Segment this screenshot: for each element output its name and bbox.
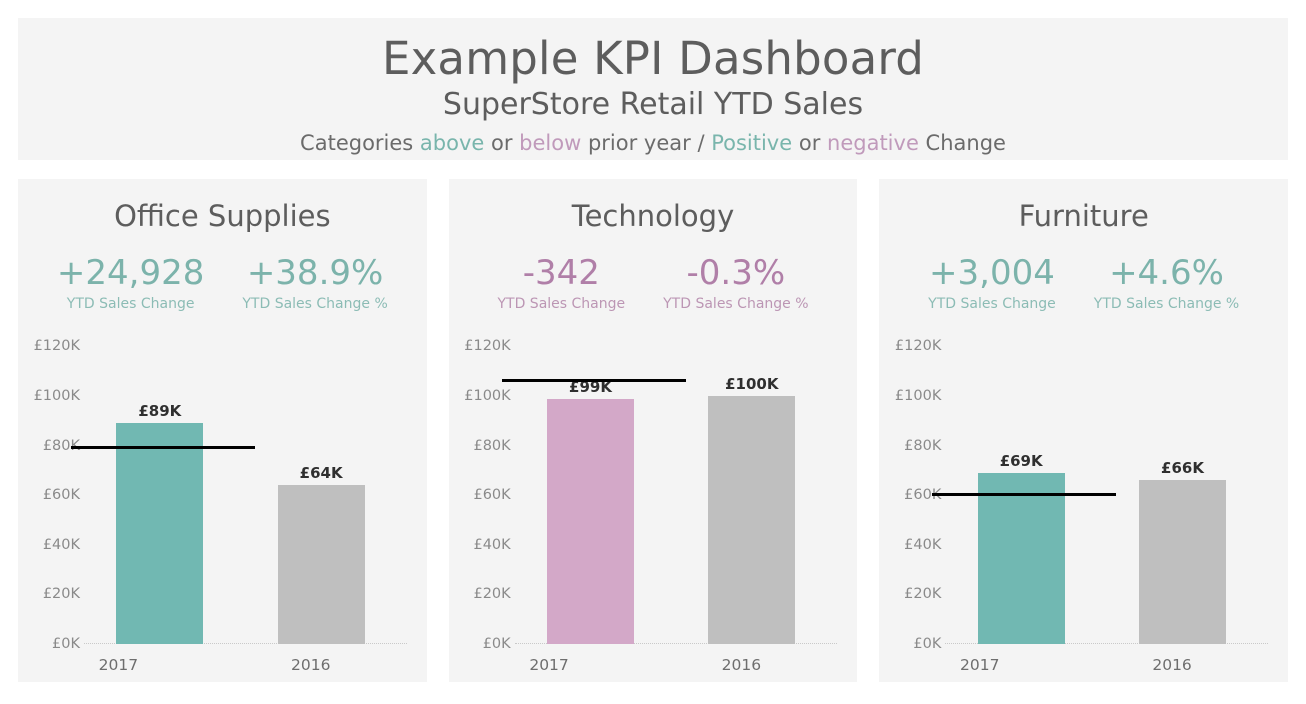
y-axis-tick: £60K [43,487,80,503]
legend-lead: Categories [300,131,420,155]
y-axis-tick: £100K [34,388,80,404]
y-axis-tick: £100K [464,388,510,404]
y-axis-tick: £20K [473,586,510,602]
metric-value: +4.6% [1094,256,1239,292]
kpi-card-technology: Technology-342YTD Sales Change-0.3%YTD S… [449,179,858,682]
x-axis-label: 2017 [928,656,1032,674]
dashboard-title: Example KPI Dashboard [382,34,924,84]
dashboard-legend: Categories above or below prior year / P… [300,130,1006,157]
metric-value: +24,928 [57,256,204,292]
metric-ytd-sales-change-pct: +38.9%YTD Sales Change % [242,256,387,313]
legend-mid-3: or [792,131,827,155]
y-axis-tick: £100K [895,388,941,404]
legend-mid-1: or [484,131,519,155]
bar-group[interactable]: £100K [708,346,795,644]
legend-mid-2: prior year / [581,131,711,155]
legend-below: below [519,131,581,155]
bar-group[interactable]: £99K [547,346,634,644]
bar-chart: £120K£100K£80K£60K£40K£20K£0K20172016£89… [28,336,413,682]
bar-value-label: £100K [725,375,778,393]
legend-negative: negative [827,131,919,155]
metric-value: +3,004 [928,256,1056,292]
dashboard-subtitle: SuperStore Retail YTD Sales [443,86,863,124]
metric-label: YTD Sales Change [928,296,1056,312]
kpi-metrics: -342YTD Sales Change-0.3%YTD Sales Chang… [449,256,858,313]
metric-label: YTD Sales Change % [242,296,387,312]
y-axis-tick: £0K [913,636,941,652]
plot-area: £69K£66K [945,346,1268,644]
metric-ytd-sales-change-pct: +4.6%YTD Sales Change % [1094,256,1239,313]
kpi-metrics: +24,928YTD Sales Change+38.9%YTD Sales C… [18,256,427,313]
bar-value-label: £66K [1161,459,1204,477]
bar-2017[interactable] [116,423,203,644]
kpi-card-row: Office Supplies+24,928YTD Sales Change+3… [18,179,1288,682]
legend-tail: Change [919,131,1006,155]
bar-2017[interactable] [547,399,634,644]
y-axis-tick: £60K [473,487,510,503]
plot-area: £89K£64K [84,346,407,644]
legend-positive: Positive [711,131,792,155]
bar-group[interactable]: £64K [278,346,365,644]
y-axis: £120K£100K£80K£60K£40K£20K£0K [28,346,80,644]
bar-value-label: £89K [138,402,181,420]
y-axis-tick: £80K [473,438,510,454]
x-axis-label: 2017 [497,656,601,674]
y-axis-tick: £120K [464,338,510,354]
metric-ytd-sales-change: +3,004YTD Sales Change [928,256,1056,313]
bar-chart: £120K£100K£80K£60K£40K£20K£0K20172016£69… [889,336,1274,682]
y-axis-tick: £80K [904,438,941,454]
y-axis-tick: £40K [904,537,941,553]
y-axis: £120K£100K£80K£60K£40K£20K£0K [459,346,511,644]
bar-2017[interactable] [978,473,1065,644]
metric-ytd-sales-change-pct: -0.3%YTD Sales Change % [663,256,808,313]
plot-area: £99K£100K [515,346,838,644]
y-axis-tick: £20K [43,586,80,602]
y-axis-tick: £40K [473,537,510,553]
reference-line [71,446,255,449]
reference-line [502,379,686,382]
card-title: Furniture [879,199,1288,234]
bar-value-label: £69K [1000,452,1043,470]
metric-label: YTD Sales Change [497,296,625,312]
bar-group[interactable]: £89K [116,346,203,644]
metric-ytd-sales-change: -342YTD Sales Change [497,256,625,313]
kpi-card-office-supplies: Office Supplies+24,928YTD Sales Change+3… [18,179,427,682]
card-title: Office Supplies [18,199,427,234]
bar-value-label: £64K [300,464,343,482]
x-axis-label: 2016 [1120,656,1224,674]
x-axis-label: 2017 [66,656,170,674]
y-axis-tick: £120K [895,338,941,354]
y-axis-tick: £120K [34,338,80,354]
bar-group[interactable]: £66K [1139,346,1226,644]
reference-line [932,493,1116,496]
metric-label: YTD Sales Change [57,296,204,312]
bar-2016[interactable] [708,396,795,644]
metric-value: -0.3% [663,256,808,292]
y-axis-tick: £0K [483,636,511,652]
x-axis-label: 2016 [259,656,363,674]
bar-2016[interactable] [1139,480,1226,644]
kpi-card-furniture: Furniture+3,004YTD Sales Change+4.6%YTD … [879,179,1288,682]
kpi-dashboard: Example KPI Dashboard SuperStore Retail … [0,0,1306,704]
y-axis-tick: £0K [52,636,80,652]
legend-above: above [420,131,484,155]
dashboard-header: Example KPI Dashboard SuperStore Retail … [18,18,1288,160]
metric-value: +38.9% [242,256,387,292]
bar-2016[interactable] [278,485,365,644]
bar-chart: £120K£100K£80K£60K£40K£20K£0K20172016£99… [459,336,844,682]
kpi-metrics: +3,004YTD Sales Change+4.6%YTD Sales Cha… [879,256,1288,313]
y-axis-tick: £20K [904,586,941,602]
metric-label: YTD Sales Change % [1094,296,1239,312]
metric-ytd-sales-change: +24,928YTD Sales Change [57,256,204,313]
metric-label: YTD Sales Change % [663,296,808,312]
card-title: Technology [449,199,858,234]
y-axis-tick: £40K [43,537,80,553]
metric-value: -342 [497,256,625,292]
x-axis-label: 2016 [689,656,793,674]
